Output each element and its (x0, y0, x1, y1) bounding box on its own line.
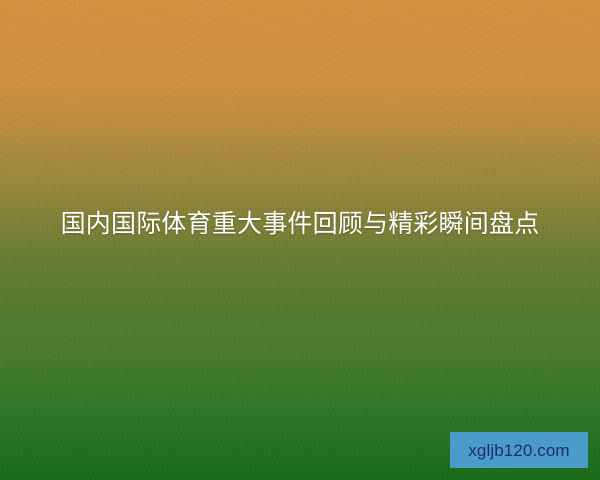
banner-title: 国内国际体育重大事件回顾与精彩瞬间盘点 (28, 203, 572, 246)
watermark-text: xgljb120.com (468, 442, 569, 459)
banner-image: 国内国际体育重大事件回顾与精彩瞬间盘点 xgljb120.com (0, 0, 600, 480)
watermark-badge: xgljb120.com (450, 432, 588, 468)
